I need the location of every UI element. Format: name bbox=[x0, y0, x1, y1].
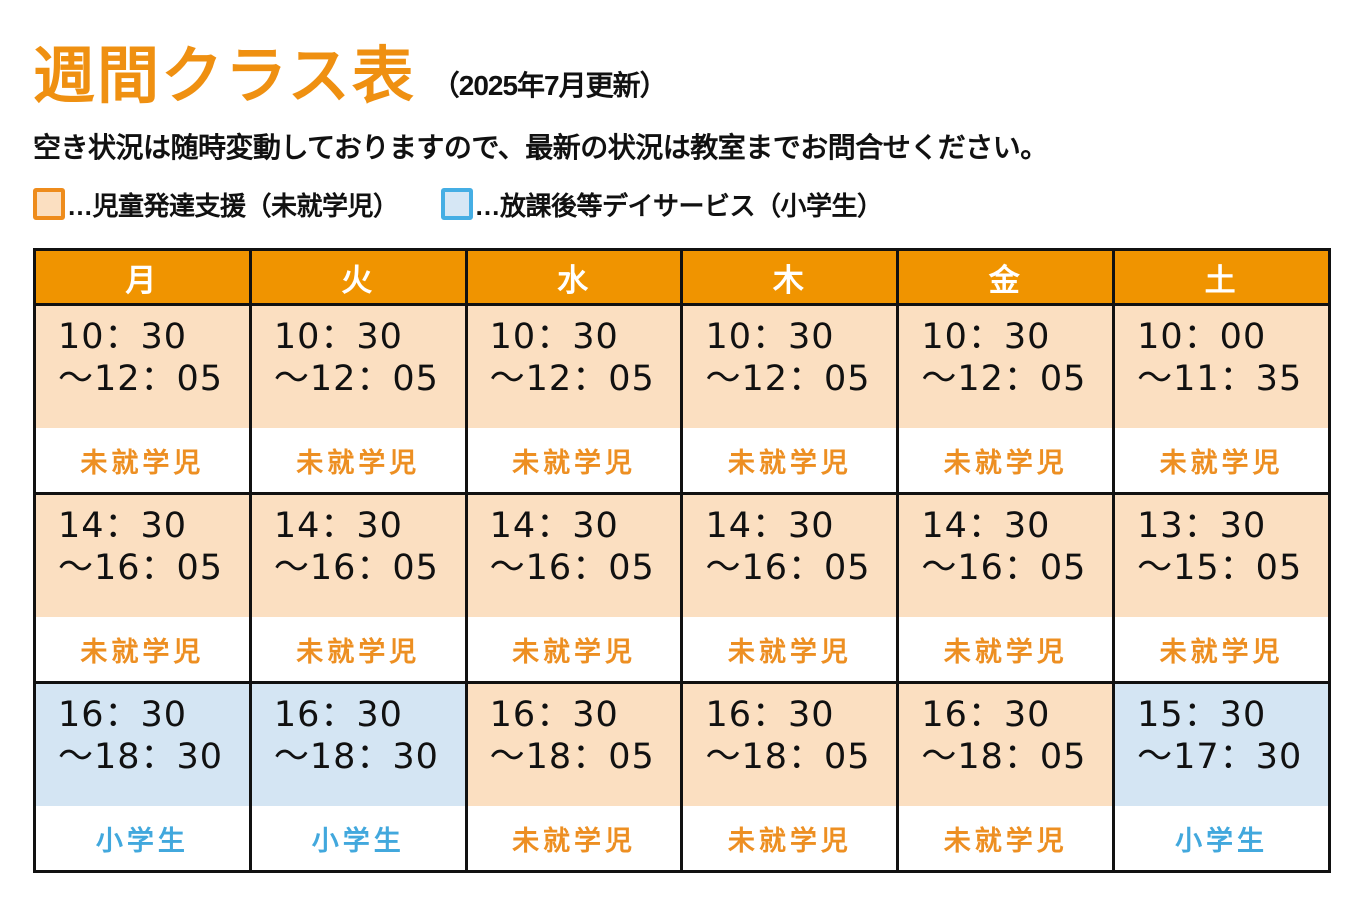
column-header-5: 土 bbox=[1114, 250, 1330, 305]
class-time: 16：30～18：30 bbox=[252, 684, 465, 806]
class-time: 10：30～12：05 bbox=[899, 306, 1112, 428]
schedule-cell: 16：30～18：30小学生 bbox=[250, 683, 466, 872]
class-time: 16：30～18：30 bbox=[36, 684, 249, 806]
class-time: 16：30～18：05 bbox=[468, 684, 681, 806]
class-end-time: ～18：05 bbox=[705, 736, 896, 778]
class-end-time: ～18：30 bbox=[58, 736, 249, 778]
class-slot: 13：30～15：05未就学児 bbox=[1115, 495, 1328, 681]
class-end-time: ～18：05 bbox=[921, 736, 1112, 778]
legend-label: …児童発達支援（未就学児） bbox=[67, 186, 399, 223]
schedule-cell: 10：30～12：05未就学児 bbox=[898, 305, 1114, 494]
class-slot: 14：30～16：05未就学児 bbox=[683, 495, 896, 681]
class-start-time: 10：30 bbox=[921, 316, 1112, 358]
table-header-row: 月火水木金土 bbox=[35, 250, 1330, 305]
schedule-cell: 14：30～16：05未就学児 bbox=[898, 494, 1114, 683]
class-category-label: 未就学児 bbox=[1115, 428, 1328, 492]
class-start-time: 14：30 bbox=[490, 505, 681, 547]
schedule-cell: 16：30～18：05未就学児 bbox=[898, 683, 1114, 872]
class-end-time: ～16：05 bbox=[274, 547, 465, 589]
legend-item-orange: …児童発達支援（未就学児） bbox=[33, 186, 399, 223]
class-category-label: 未就学児 bbox=[252, 617, 465, 681]
class-time: 10：30～12：05 bbox=[252, 306, 465, 428]
class-slot: 15：30～17：30小学生 bbox=[1115, 684, 1328, 870]
class-slot: 14：30～16：05未就学児 bbox=[899, 495, 1112, 681]
class-start-time: 15：30 bbox=[1137, 694, 1328, 736]
class-end-time: ～18：30 bbox=[274, 736, 465, 778]
class-start-time: 10：30 bbox=[490, 316, 681, 358]
class-end-time: ～16：05 bbox=[921, 547, 1112, 589]
class-time: 16：30～18：05 bbox=[899, 684, 1112, 806]
legend-swatch-blue-icon bbox=[441, 188, 473, 220]
page-title: 週間クラス表 bbox=[33, 46, 416, 108]
class-start-time: 10：30 bbox=[705, 316, 896, 358]
class-category-label: 小学生 bbox=[1115, 806, 1328, 870]
class-category-label: 小学生 bbox=[252, 806, 465, 870]
schedule-cell: 14：30～16：05未就学児 bbox=[682, 494, 898, 683]
class-category-label: 未就学児 bbox=[683, 428, 896, 492]
class-category-label: 未就学児 bbox=[36, 428, 249, 492]
legend-label: …放課後等デイサービス（小学生） bbox=[475, 186, 883, 223]
schedule-cell: 16：30～18：30小学生 bbox=[35, 683, 251, 872]
class-start-time: 14：30 bbox=[921, 505, 1112, 547]
column-header-2: 水 bbox=[466, 250, 682, 305]
class-category-label: 未就学児 bbox=[899, 806, 1112, 870]
schedule-cell: 16：30～18：05未就学児 bbox=[466, 683, 682, 872]
class-end-time: ～18：05 bbox=[490, 736, 681, 778]
class-start-time: 13：30 bbox=[1137, 505, 1328, 547]
class-start-time: 14：30 bbox=[274, 505, 465, 547]
class-slot: 16：30～18：30小学生 bbox=[36, 684, 249, 870]
update-note: （2025年7月更新） bbox=[432, 72, 667, 108]
class-slot: 10：00～11：35未就学児 bbox=[1115, 306, 1328, 492]
class-end-time: ～16：05 bbox=[58, 547, 249, 589]
class-end-time: ～11：35 bbox=[1137, 358, 1328, 400]
class-time: 10：30～12：05 bbox=[468, 306, 681, 428]
weekly-schedule-table: 月火水木金土 10：30～12：05未就学児10：30～12：05未就学児10：… bbox=[33, 248, 1331, 873]
class-time: 13：30～15：05 bbox=[1115, 495, 1328, 617]
class-time: 14：30～16：05 bbox=[683, 495, 896, 617]
class-end-time: ～12：05 bbox=[921, 358, 1112, 400]
class-category-label: 未就学児 bbox=[468, 617, 681, 681]
schedule-cell: 14：30～16：05未就学児 bbox=[250, 494, 466, 683]
class-category-label: 未就学児 bbox=[252, 428, 465, 492]
class-category-label: 未就学児 bbox=[899, 617, 1112, 681]
schedule-cell: 10：30～12：05未就学児 bbox=[466, 305, 682, 494]
schedule-cell: 15：30～17：30小学生 bbox=[1114, 683, 1330, 872]
table-row: 16：30～18：30小学生16：30～18：30小学生16：30～18：05未… bbox=[35, 683, 1330, 872]
column-header-4: 金 bbox=[898, 250, 1114, 305]
schedule-cell: 13：30～15：05未就学児 bbox=[1114, 494, 1330, 683]
table-body: 10：30～12：05未就学児10：30～12：05未就学児10：30～12：0… bbox=[35, 305, 1330, 872]
class-slot: 10：30～12：05未就学児 bbox=[899, 306, 1112, 492]
class-end-time: ～12：05 bbox=[274, 358, 465, 400]
class-slot: 10：30～12：05未就学児 bbox=[468, 306, 681, 492]
class-start-time: 16：30 bbox=[921, 694, 1112, 736]
class-start-time: 16：30 bbox=[490, 694, 681, 736]
column-header-1: 火 bbox=[250, 250, 466, 305]
class-slot: 16：30～18：30小学生 bbox=[252, 684, 465, 870]
class-start-time: 16：30 bbox=[274, 694, 465, 736]
class-slot: 10：30～12：05未就学児 bbox=[36, 306, 249, 492]
class-time: 16：30～18：05 bbox=[683, 684, 896, 806]
class-slot: 14：30～16：05未就学児 bbox=[252, 495, 465, 681]
schedule-cell: 14：30～16：05未就学児 bbox=[35, 494, 251, 683]
class-time: 14：30～16：05 bbox=[899, 495, 1112, 617]
schedule-cell: 10：00～11：35未就学児 bbox=[1114, 305, 1330, 494]
column-header-0: 月 bbox=[35, 250, 251, 305]
header-block: 週間クラス表 （2025年7月更新） 空き状況は随時変動しておりますので、最新の… bbox=[33, 22, 1333, 224]
class-time: 15：30～17：30 bbox=[1115, 684, 1328, 806]
class-slot: 10：30～12：05未就学児 bbox=[683, 306, 896, 492]
class-end-time: ～16：05 bbox=[705, 547, 896, 589]
legend: …児童発達支援（未就学児）…放課後等デイサービス（小学生） bbox=[33, 184, 1333, 224]
class-slot: 16：30～18：05未就学児 bbox=[683, 684, 896, 870]
class-category-label: 未就学児 bbox=[1115, 617, 1328, 681]
class-slot: 10：30～12：05未就学児 bbox=[252, 306, 465, 492]
subtitle-text: 空き状況は随時変動しておりますので、最新の状況は教室までお問合せください。 bbox=[33, 126, 1333, 166]
class-slot: 16：30～18：05未就学児 bbox=[899, 684, 1112, 870]
class-time: 10：30～12：05 bbox=[36, 306, 249, 428]
class-end-time: ～12：05 bbox=[490, 358, 681, 400]
class-category-label: 未就学児 bbox=[36, 617, 249, 681]
class-time: 14：30～16：05 bbox=[36, 495, 249, 617]
class-time: 14：30～16：05 bbox=[468, 495, 681, 617]
class-category-label: 未就学児 bbox=[683, 806, 896, 870]
table-row: 10：30～12：05未就学児10：30～12：05未就学児10：30～12：0… bbox=[35, 305, 1330, 494]
class-start-time: 10：30 bbox=[58, 316, 249, 358]
column-header-3: 木 bbox=[682, 250, 898, 305]
class-start-time: 16：30 bbox=[58, 694, 249, 736]
class-start-time: 14：30 bbox=[58, 505, 249, 547]
table-row: 14：30～16：05未就学児14：30～16：05未就学児14：30～16：0… bbox=[35, 494, 1330, 683]
class-category-label: 未就学児 bbox=[468, 806, 681, 870]
schedule-cell: 14：30～16：05未就学児 bbox=[466, 494, 682, 683]
class-category-label: 未就学児 bbox=[683, 617, 896, 681]
legend-swatch-orange-icon bbox=[33, 188, 65, 220]
schedule-cell: 10：30～12：05未就学児 bbox=[250, 305, 466, 494]
class-time: 14：30～16：05 bbox=[252, 495, 465, 617]
class-category-label: 未就学児 bbox=[899, 428, 1112, 492]
class-end-time: ～12：05 bbox=[705, 358, 896, 400]
class-end-time: ～16：05 bbox=[490, 547, 681, 589]
class-start-time: 14：30 bbox=[705, 505, 896, 547]
title-row: 週間クラス表 （2025年7月更新） bbox=[33, 22, 1333, 108]
class-end-time: ～12：05 bbox=[58, 358, 249, 400]
schedule-cell: 16：30～18：05未就学児 bbox=[682, 683, 898, 872]
class-end-time: ～15：05 bbox=[1137, 547, 1328, 589]
class-slot: 14：30～16：05未就学児 bbox=[36, 495, 249, 681]
class-time: 10：30～12：05 bbox=[683, 306, 896, 428]
class-time: 10：00～11：35 bbox=[1115, 306, 1328, 428]
class-category-label: 小学生 bbox=[36, 806, 249, 870]
class-start-time: 10：00 bbox=[1137, 316, 1328, 358]
class-start-time: 10：30 bbox=[274, 316, 465, 358]
class-end-time: ～17：30 bbox=[1137, 736, 1328, 778]
schedule-cell: 10：30～12：05未就学児 bbox=[682, 305, 898, 494]
class-category-label: 未就学児 bbox=[468, 428, 681, 492]
schedule-cell: 10：30～12：05未就学児 bbox=[35, 305, 251, 494]
class-slot: 14：30～16：05未就学児 bbox=[468, 495, 681, 681]
legend-item-blue: …放課後等デイサービス（小学生） bbox=[441, 186, 883, 223]
class-start-time: 16：30 bbox=[705, 694, 896, 736]
class-slot: 16：30～18：05未就学児 bbox=[468, 684, 681, 870]
